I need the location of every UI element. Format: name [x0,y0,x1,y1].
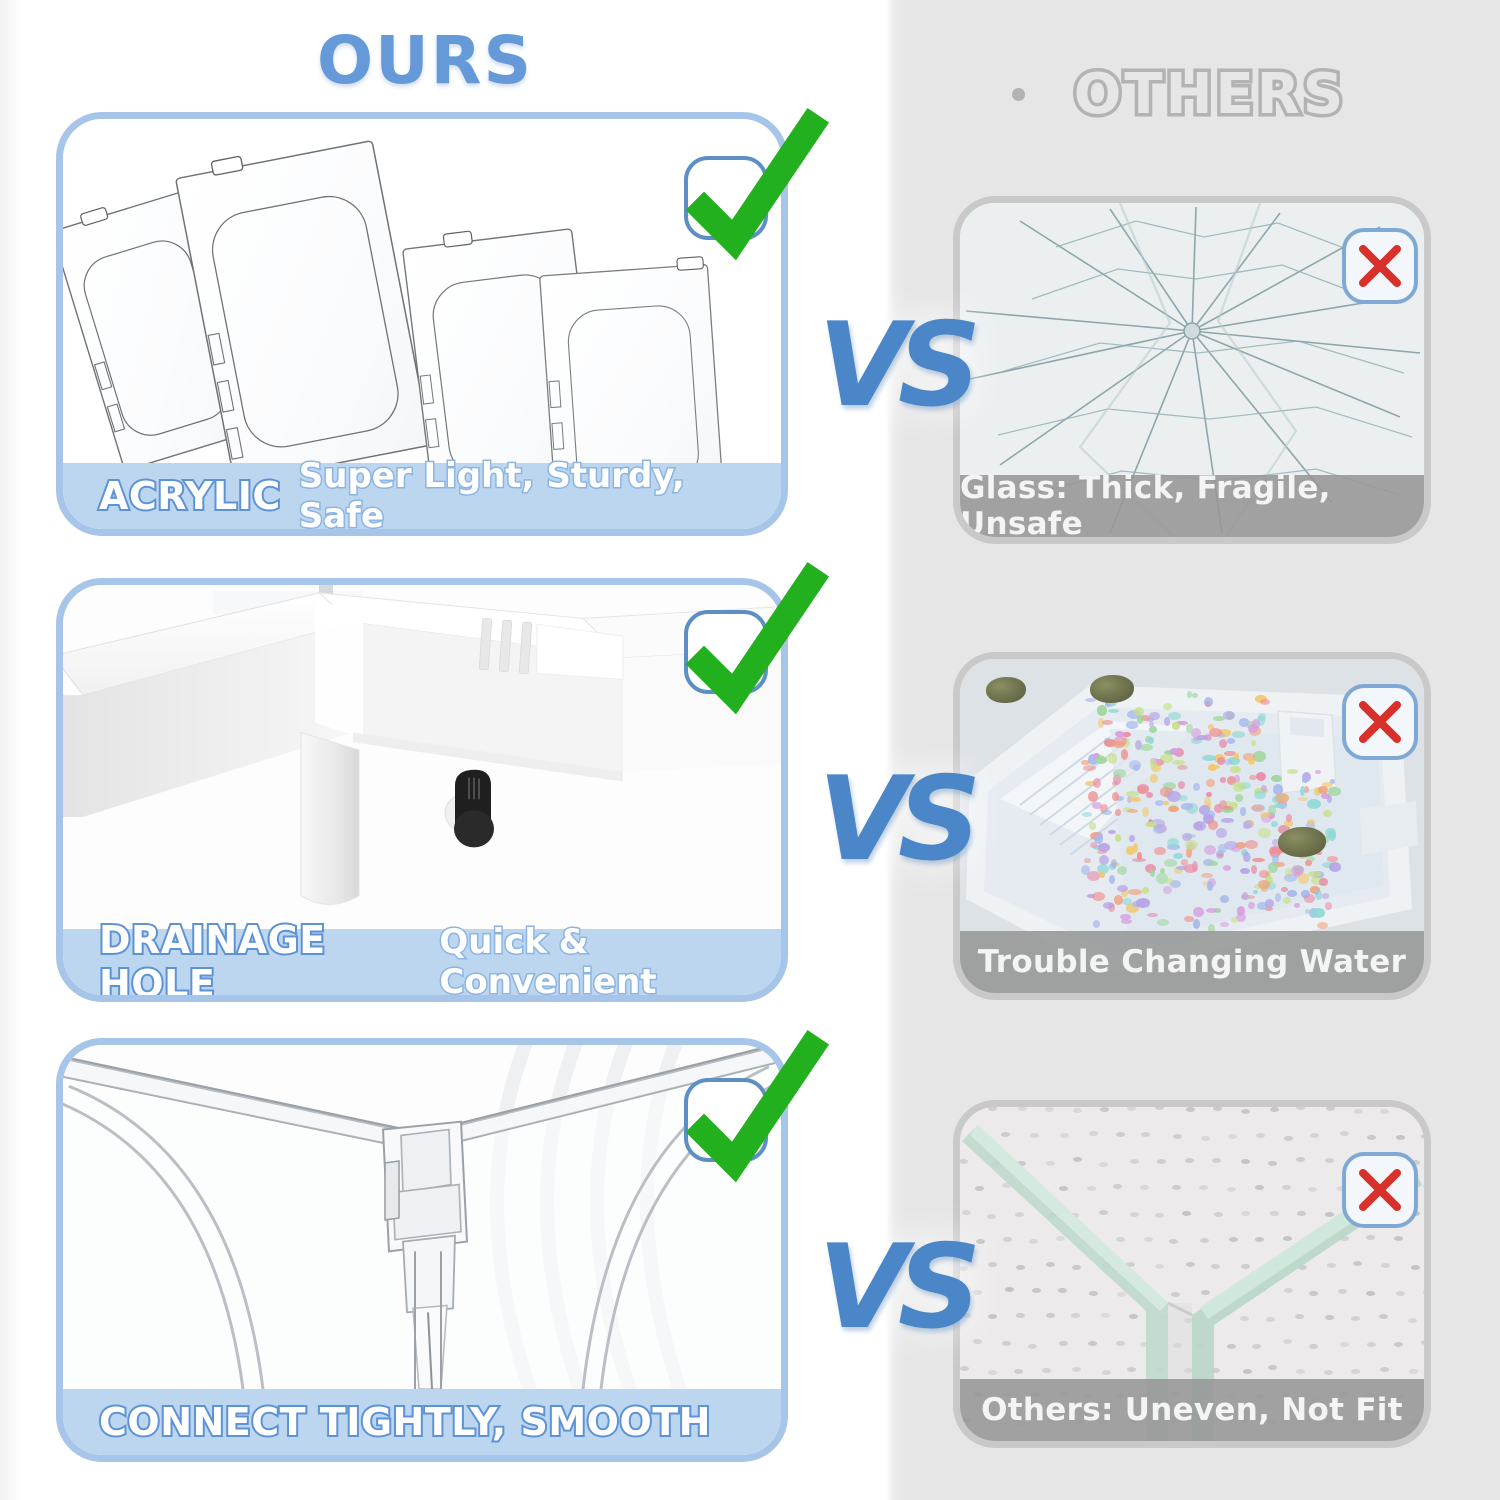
gravel-pebble [1150,759,1157,769]
turtle [1090,675,1134,703]
gravel-pebble [1186,724,1192,733]
gravel-pebble [1213,716,1225,721]
ours-caption-light-row1: Super Light, Sturdy, Safe [299,456,781,536]
gravel-pebble [1099,872,1105,878]
gravel-pebble [1108,709,1119,713]
gravel-pebble [1216,828,1227,837]
gravel-pebble [1304,894,1316,903]
gravel-pebble [1103,902,1115,909]
ours-caption-row2: DRAINAGE HOLE Quick & Convenient [63,929,781,995]
ours-caption-row1: ACRYLIC Super Light, Sturdy, Safe [63,463,781,529]
cross-mark-glyph [1355,241,1405,291]
cross-icon-row2 [1342,684,1418,760]
gravel-pebble [1115,809,1122,816]
gravel-pebble [1329,862,1341,872]
check-icon-row3 [684,1078,768,1162]
gravel-pebble [1097,850,1107,854]
gravel-pebble [1223,865,1231,871]
white-frame-drainage-valve-photo [63,585,781,929]
gravel-pebble [1163,886,1172,894]
gravel-pebble [1251,805,1264,811]
gravel-pebble [1268,805,1276,815]
gravel-pebble [1312,908,1325,917]
gravel-pebble [1164,717,1170,725]
gravel-pebble [1308,871,1322,876]
gravel-pebble [1204,845,1216,855]
gravel-pebble [1265,899,1274,908]
ours-caption-strong-row3: CONNECT TIGHTLY, SMOOTH [99,1400,711,1444]
check-mark-glyph [676,118,826,268]
gravel-pebble [1181,803,1193,809]
vs-label-row2: VS [818,752,971,887]
gravel-pebble [1109,875,1115,884]
corner-joint-svg [63,1045,781,1389]
gravel-pebble [1275,793,1289,804]
gravel-pebble [1165,878,1173,885]
gravel-pebble [1081,760,1090,765]
gravel-pebble [1083,765,1096,771]
gravel-pebble [1082,812,1093,817]
check-mark-glyph [676,572,826,722]
gravel-pebble [1307,799,1321,809]
gravel-pebble [1089,822,1097,830]
cross-icon-row3 [1342,1152,1418,1228]
gravel-pebble [1221,818,1234,823]
others-caption-row2: Trouble Changing Water [960,931,1424,993]
ours-heading: OURS [0,22,850,99]
gravel-pebble [1136,898,1150,907]
gravel-pebble [1243,821,1253,827]
check-icon-row1 [684,156,768,240]
ours-caption-light-row2: Quick & Convenient [439,922,781,1002]
gravel-pebble [1193,907,1203,917]
gravel-pebble [1093,778,1101,788]
gravel-pebble [1237,906,1245,916]
turtle [1278,827,1326,857]
others-caption-row1: Glass: Thick, Fragile, Unsafe [960,475,1424,537]
gravel-pebble [1206,779,1215,787]
gravel-pebble [1115,731,1125,737]
gravel-pebble [1218,844,1227,853]
gravel-pebble [1319,878,1328,885]
gravel-pebble [1126,721,1139,729]
ours-caption-strong-row1: ACRYLIC [99,474,281,518]
gravel-pebble [1317,922,1328,929]
gravel-pebble [1193,783,1200,791]
gravel-pebble [1322,893,1328,899]
gravel-pebble [1287,890,1297,897]
gravel-pebble [1094,834,1103,844]
gravel-pebble [1130,797,1141,802]
comparison-infographic: OURS OTHERS [0,0,1500,1500]
gravel-pebble [1097,705,1108,715]
gravel-pebble [1157,919,1169,926]
ours-caption-row3: CONNECT TIGHTLY, SMOOTH [63,1389,781,1455]
gravel-pebble [1101,810,1112,815]
gravel-pebble [1242,892,1248,900]
others-o-dot-icon [1012,88,1025,101]
gravel-pebble [1260,699,1270,705]
gravel-pebble [1197,735,1209,739]
cross-mark-glyph [1355,697,1405,747]
gravel-pebble [1206,908,1218,913]
ours-caption-strong-row2: DRAINAGE HOLE [99,918,421,1002]
gravel-pebble [1168,712,1181,720]
gravel-pebble [1315,770,1321,775]
gravel-pebble [1219,739,1227,748]
drain-valve-icon [454,770,494,848]
gravel-pebble [1202,755,1216,761]
gravel-pebble [1239,718,1250,726]
gravel-pebble [1325,902,1332,910]
gravel-pebble [1325,828,1335,838]
gravel-pebble [1142,887,1150,894]
gravel-pebble [1321,793,1329,800]
gravel-pebble [1149,712,1160,720]
gravel-pebble [1291,865,1304,876]
gravel-pebble [1253,751,1265,762]
gravel-pebble [1234,753,1239,760]
gravel-pebble [1178,795,1188,801]
gravel-pebble [1256,772,1266,781]
gravel-pebble [1108,753,1118,763]
gravel-pebble [1283,897,1292,904]
gravel-pebble [1113,769,1126,778]
left-edge-shade [0,0,22,1500]
gravel-pebble [1323,810,1332,817]
gravel-pebble [1294,903,1300,908]
gravel-pebble [1327,856,1338,862]
gravel-pebble [1220,895,1229,903]
gravel-pebble [1248,902,1255,909]
gravel-pebble [1220,777,1226,783]
turtle [986,677,1026,703]
vs-label-row1: VS [818,298,971,433]
acrylic-panels-svg [63,119,781,463]
gravel-pebble [1088,791,1098,802]
gravel-pebble [1120,914,1131,921]
gravel-pebble [1133,843,1138,853]
gravel-pebble [1170,748,1180,755]
check-icon-row2 [684,610,768,694]
gravel-pebble [1305,860,1312,867]
vs-label-row3: VS [818,1220,971,1355]
gravel-pebble [1147,913,1158,917]
gravel-pebble [1154,847,1166,855]
gravel-pebble [1121,749,1129,760]
gravel-pebble [1142,807,1149,817]
check-mark-glyph [676,1040,826,1190]
drainage-frame-svg [63,585,781,929]
gravel-pebble [1208,820,1218,830]
gravel-pebble [1153,824,1165,834]
gravel-pebble [1184,864,1198,873]
gravel-pebble [1272,853,1279,863]
acrylic-corner-joint-illustration [63,1045,781,1389]
cross-icon-row1 [1342,228,1418,304]
gravel-pebble [1217,853,1223,857]
gravel-pebble [1252,858,1265,862]
gravel-pebble [1117,885,1129,892]
gravel-pebble [1117,866,1127,875]
gravel-pebble [1287,769,1298,773]
gravel-pebble [1232,731,1245,738]
gravel-pebble [1177,765,1188,770]
others-caption-row3: Others: Uneven, Not Fit [960,1379,1424,1441]
others-heading-text: OTHERS [1074,62,1346,127]
gravel-pebble [1208,764,1218,770]
gravel-pebble [1129,760,1141,770]
cross-mark-glyph [1355,1165,1405,1215]
gravel-pebble [1205,701,1210,706]
gravel-pebble [1298,797,1308,801]
gravel-pebble [1150,774,1158,783]
others-heading: OTHERS [950,62,1470,127]
gravel-pebble [1328,787,1342,796]
gravel-pebble [1251,865,1257,874]
gravel-pebble [1271,775,1282,783]
acrylic-panels-illustration [63,119,781,463]
